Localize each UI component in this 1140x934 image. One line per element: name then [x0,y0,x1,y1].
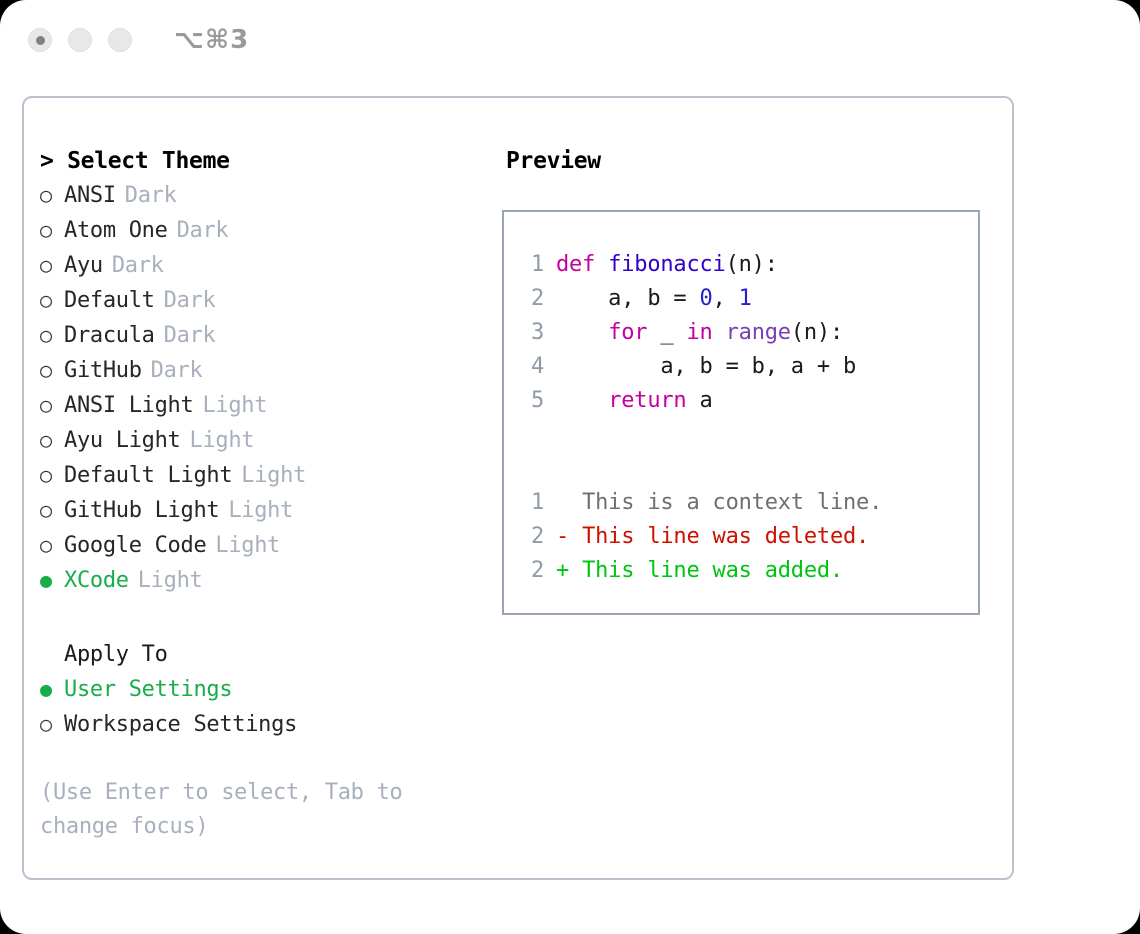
theme-option-github-dark[interactable]: ○ GitHub Dark [40,353,502,388]
preview-heading: Preview [506,144,1012,178]
line-number: 2 [518,520,544,554]
keyboard-shortcut-label: ⌥⌘3 [174,25,249,55]
traffic-light-group [28,28,132,52]
preview-box: 1 def fibonacci (n): 2 a, b = 0 , 1 [502,210,980,615]
diff-line-text: This is a context line. [556,486,882,520]
select-theme-heading: > Select Theme [40,144,502,178]
theme-option-label: Dracula [64,319,155,353]
theme-option-dracula-dark[interactable]: ○ Dracula Dark [40,318,502,353]
code-token: 1 [739,282,752,316]
theme-option-kind: Dark [177,214,229,248]
theme-option-label: Ayu Light [64,424,181,458]
theme-option-ansi-dark[interactable]: ○ ANSI Dark [40,178,502,213]
radio-unselected-icon: ○ [40,213,64,247]
line-number: 4 [518,350,544,384]
diff-line-text: + This line was added. [556,554,843,588]
code-line: 2 a, b = 0 , 1 [518,282,978,316]
code-token: return [608,384,686,418]
radio-unselected-icon: ○ [40,458,64,492]
theme-option-label: XCode [64,564,129,598]
radio-unselected-icon: ○ [40,353,64,387]
apply-to-workspace-settings[interactable]: ○ Workspace Settings [40,707,502,742]
line-number: 3 [518,316,544,350]
maximize-button-icon[interactable] [108,28,132,52]
theme-option-kind: Light [241,459,306,493]
code-token: (n): [791,316,843,350]
theme-option-default-light[interactable]: ○ Default Light Light [40,458,502,493]
theme-option-default-dark[interactable]: ○ Default Dark [40,283,502,318]
active-indicator-dot [36,36,45,45]
theme-option-label: ANSI [64,179,116,213]
theme-option-kind: Light [190,424,255,458]
radio-unselected-icon: ○ [40,318,64,352]
code-line: 1 def fibonacci (n): [518,248,978,282]
preview-spacer [518,418,978,452]
diff-line-deleted: 2 - This line was deleted. [518,520,978,554]
code-token: _ [647,316,686,350]
code-token [556,316,608,350]
theme-option-label: Default [64,284,155,318]
window-titlebar: ⌥⌘3 [0,0,1140,80]
radio-unselected-icon: ○ [40,493,64,527]
diff-line-added: 2 + This line was added. [518,554,978,588]
radio-unselected-icon: ○ [40,248,64,282]
code-token [713,316,726,350]
theme-option-label: Google Code [64,529,206,563]
code-token: range [726,316,791,350]
radio-unselected-icon: ○ [40,388,64,422]
preview-spacer [518,452,978,486]
code-token: a, b = b, a + b [556,350,856,384]
theme-option-label: Default Light [64,459,232,493]
line-number: 1 [518,248,544,282]
line-number: 5 [518,384,544,418]
code-token: a [686,384,712,418]
theme-option-kind: Light [228,494,293,528]
code-line: 4 a, b = b, a + b [518,350,978,384]
theme-option-kind: Dark [125,179,177,213]
apply-to-heading: Apply To [40,638,502,672]
theme-option-list: ○ ANSI Dark ○ Atom One Dark ○ Ayu Dark [40,178,502,598]
theme-option-github-light[interactable]: ○ GitHub Light Light [40,493,502,528]
theme-option-ayu-light[interactable]: ○ Ayu Light Light [40,423,502,458]
line-number: 2 [518,554,544,588]
theme-option-ansi-light[interactable]: ○ ANSI Light Light [40,388,502,423]
code-token: 0 [700,282,713,316]
theme-option-kind: Dark [112,249,164,283]
apply-to-user-settings[interactable]: ● User Settings [40,672,502,707]
theme-option-kind: Dark [164,284,216,318]
radio-unselected-icon: ○ [40,283,64,317]
code-line: 5 return a [518,384,978,418]
code-token: in [686,316,712,350]
code-line: 3 for _ in range (n): [518,316,978,350]
radio-selected-icon: ● [40,563,64,597]
close-button-icon[interactable] [28,28,52,52]
diff-sample-block: 1 This is a context line. 2 - This line … [518,486,978,588]
theme-option-label: ANSI Light [64,389,193,423]
code-token: , [713,282,739,316]
apply-to-label: Workspace Settings [64,708,297,742]
radio-selected-icon: ● [40,672,64,706]
theme-option-label: Atom One [64,214,168,248]
apply-to-option-list: ● User Settings ○ Workspace Settings [40,672,502,742]
keyboard-hint-text: (Use Enter to select, Tab to change focu… [40,776,440,844]
line-number: 1 [518,486,544,520]
main-panel: > Select Theme ○ ANSI Dark ○ Atom One Da… [22,96,1014,880]
code-token: for [608,316,647,350]
theme-selection-column: > Select Theme ○ ANSI Dark ○ Atom One Da… [24,98,502,878]
line-number: 2 [518,282,544,316]
code-token: (n): [726,248,778,282]
radio-unselected-icon: ○ [40,178,64,212]
theme-option-kind: Light [138,564,203,598]
radio-unselected-icon: ○ [40,707,64,741]
code-sample-block: 1 def fibonacci (n): 2 a, b = 0 , 1 [518,248,978,418]
diff-line-context: 1 This is a context line. [518,486,978,520]
code-token [556,384,608,418]
theme-option-label: Ayu [64,249,103,283]
theme-option-kind: Light [215,529,280,563]
theme-option-kind: Light [202,389,267,423]
minimize-button-icon[interactable] [68,28,92,52]
radio-unselected-icon: ○ [40,528,64,562]
theme-option-ayu-dark[interactable]: ○ Ayu Dark [40,248,502,283]
radio-unselected-icon: ○ [40,423,64,457]
theme-option-label: GitHub Light [64,494,219,528]
theme-option-label: GitHub [64,354,142,388]
apply-to-label: User Settings [64,673,232,707]
code-token: a, b = [556,282,700,316]
theme-option-kind: Dark [164,319,216,353]
theme-option-atom-one-dark[interactable]: ○ Atom One Dark [40,213,502,248]
app-window: ⌥⌘3 > Select Theme ○ ANSI Dark ○ Atom On… [0,0,1140,934]
theme-option-xcode-light[interactable]: ● XCode Light [40,563,502,598]
theme-option-kind: Dark [151,354,203,388]
diff-line-text: - This line was deleted. [556,520,869,554]
code-token: def [556,248,608,282]
preview-column: Preview 1 def fibonacci (n): 2 a, b = [502,98,1012,878]
theme-option-google-code[interactable]: ○ Google Code Light [40,528,502,563]
code-token: fibonacci [608,248,725,282]
